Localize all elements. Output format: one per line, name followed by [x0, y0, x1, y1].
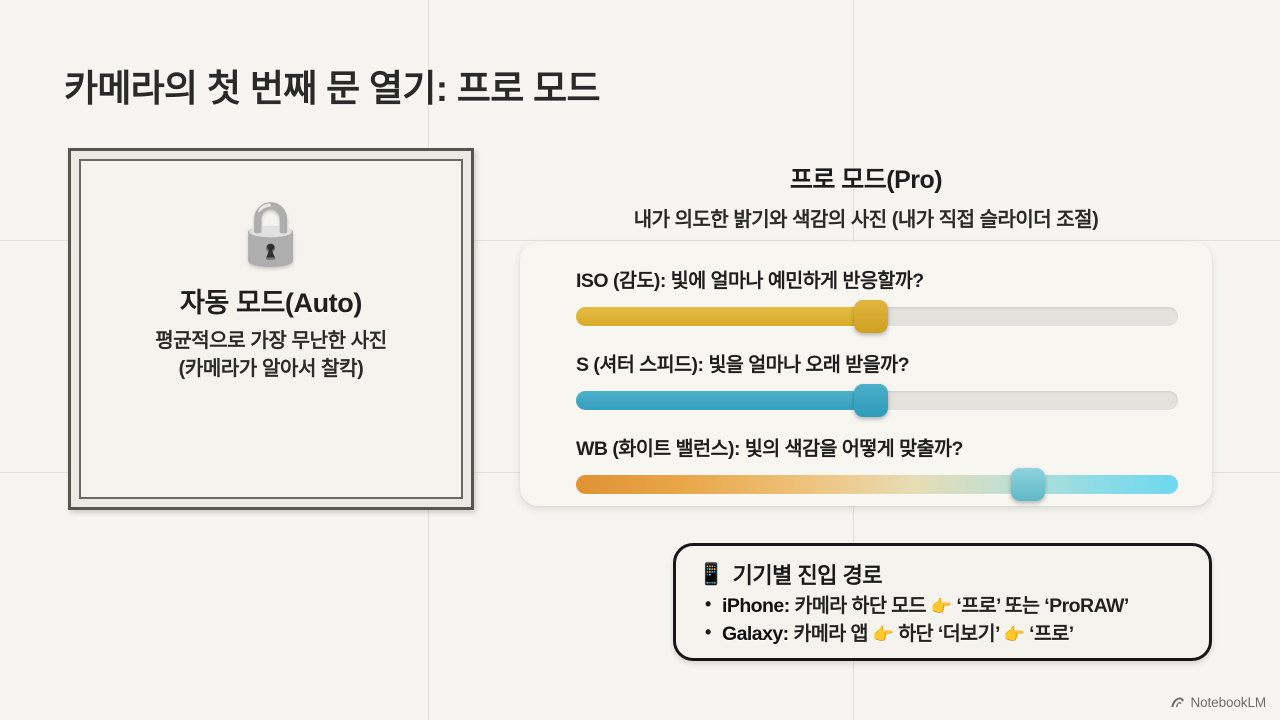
notebooklm-watermark: NotebookLM [1170, 695, 1266, 710]
pointing-right-icon: 👉 [873, 625, 894, 644]
slider-thumb-shutter-speed[interactable] [854, 384, 888, 417]
device-path-callout: 📱 기기별 진입 경로 iPhone: 카메라 하단 모드 👉 ‘프로’ 또는 … [673, 543, 1212, 661]
pro-mode-heading: 프로 모드(Pro) 내가 의도한 밝기와 색감의 사진 (내가 직접 슬라이더… [520, 160, 1212, 232]
auto-mode-card: 🔒 자동 모드(Auto) 평균적으로 가장 무난한 사진 (카메라가 알아서 … [68, 148, 474, 510]
auto-mode-description: 평균적으로 가장 무난한 사진 (카메라가 알아서 찰칵) [155, 328, 386, 383]
auto-mode-frame-inner: 🔒 자동 모드(Auto) 평균적으로 가장 무난한 사진 (카메라가 알아서 … [79, 159, 463, 499]
slider-label-white-balance: WB (화이트 밸런스): 빛의 색감을 어떻게 맞출까? [576, 432, 1178, 461]
slider-track-shutter-speed[interactable] [576, 391, 1178, 410]
device-path-galaxy-c: ‘프로’ [1024, 623, 1073, 645]
device-name-galaxy: Galaxy: [722, 623, 789, 645]
pro-mode-slider-panel: ISO (감도): 빛에 얼마나 예민하게 반응할까? S (셔터 스피드): … [520, 242, 1212, 506]
slider-label-iso: ISO (감도): 빛에 얼마나 예민하게 반응할까? [576, 264, 1178, 293]
slider-fill-white-balance [576, 475, 1178, 494]
notebooklm-watermark-label: NotebookLM [1190, 695, 1266, 710]
device-path-galaxy-a: 카메라 앱 [789, 623, 873, 645]
callout-heading-label: 기기별 진입 경로 [733, 558, 882, 590]
slider-row-white-balance: WB (화이트 밸런스): 빛의 색감을 어떻게 맞출까? [576, 432, 1178, 494]
slider-thumb-white-balance[interactable] [1011, 468, 1045, 501]
device-path-iphone-b: ‘프로’ 또는 ‘ProRAW’ [951, 595, 1128, 617]
slider-row-iso: ISO (감도): 빛에 얼마나 예민하게 반응할까? [576, 264, 1178, 326]
mobile-phone-icon: 📱 [698, 564, 724, 585]
slider-fill-iso [576, 307, 871, 326]
callout-heading: 📱 기기별 진입 경로 [698, 558, 1191, 590]
auto-mode-description-line-1: 평균적으로 가장 무난한 사진 [155, 328, 386, 356]
callout-list: iPhone: 카메라 하단 모드 👉 ‘프로’ 또는 ‘ProRAW’ Gal… [698, 592, 1191, 648]
auto-mode-title: 자동 모드(Auto) [180, 281, 362, 320]
slider-label-shutter-speed: S (셔터 스피드): 빛을 얼마나 오래 받을까? [576, 348, 1178, 377]
pointing-right-icon-2: 👉 [1004, 625, 1025, 644]
notebooklm-logo-icon [1170, 695, 1185, 710]
slider-thumb-iso[interactable] [854, 300, 888, 333]
list-item: Galaxy: 카메라 앱 👉 하단 ‘더보기’ 👉 ‘프로’ [722, 620, 1191, 648]
list-item: iPhone: 카메라 하단 모드 👉 ‘프로’ 또는 ‘ProRAW’ [722, 592, 1191, 620]
device-path-galaxy-b: 하단 ‘더보기’ [893, 623, 1003, 645]
device-name-iphone: iPhone: [722, 595, 790, 617]
pro-mode-title: 프로 모드(Pro) [520, 160, 1212, 196]
pointing-right-icon: 👉 [931, 597, 952, 616]
page-title: 카메라의 첫 번째 문 열기: 프로 모드 [64, 58, 600, 112]
device-path-iphone-a: 카메라 하단 모드 [790, 595, 931, 617]
lock-closed-icon: 🔒 [232, 203, 309, 265]
slider-row-shutter-speed: S (셔터 스피드): 빛을 얼마나 오래 받을까? [576, 348, 1178, 410]
slider-track-white-balance[interactable] [576, 475, 1178, 494]
auto-mode-description-line-2: (카메라가 알아서 찰칵) [155, 356, 386, 384]
slider-track-iso[interactable] [576, 307, 1178, 326]
slider-fill-shutter-speed [576, 391, 871, 410]
slide-canvas: 카메라의 첫 번째 문 열기: 프로 모드 🔒 자동 모드(Auto) 평균적으… [0, 0, 1280, 720]
pro-mode-subtitle: 내가 의도한 밝기와 색감의 사진 (내가 직접 슬라이더 조절) [520, 203, 1212, 232]
